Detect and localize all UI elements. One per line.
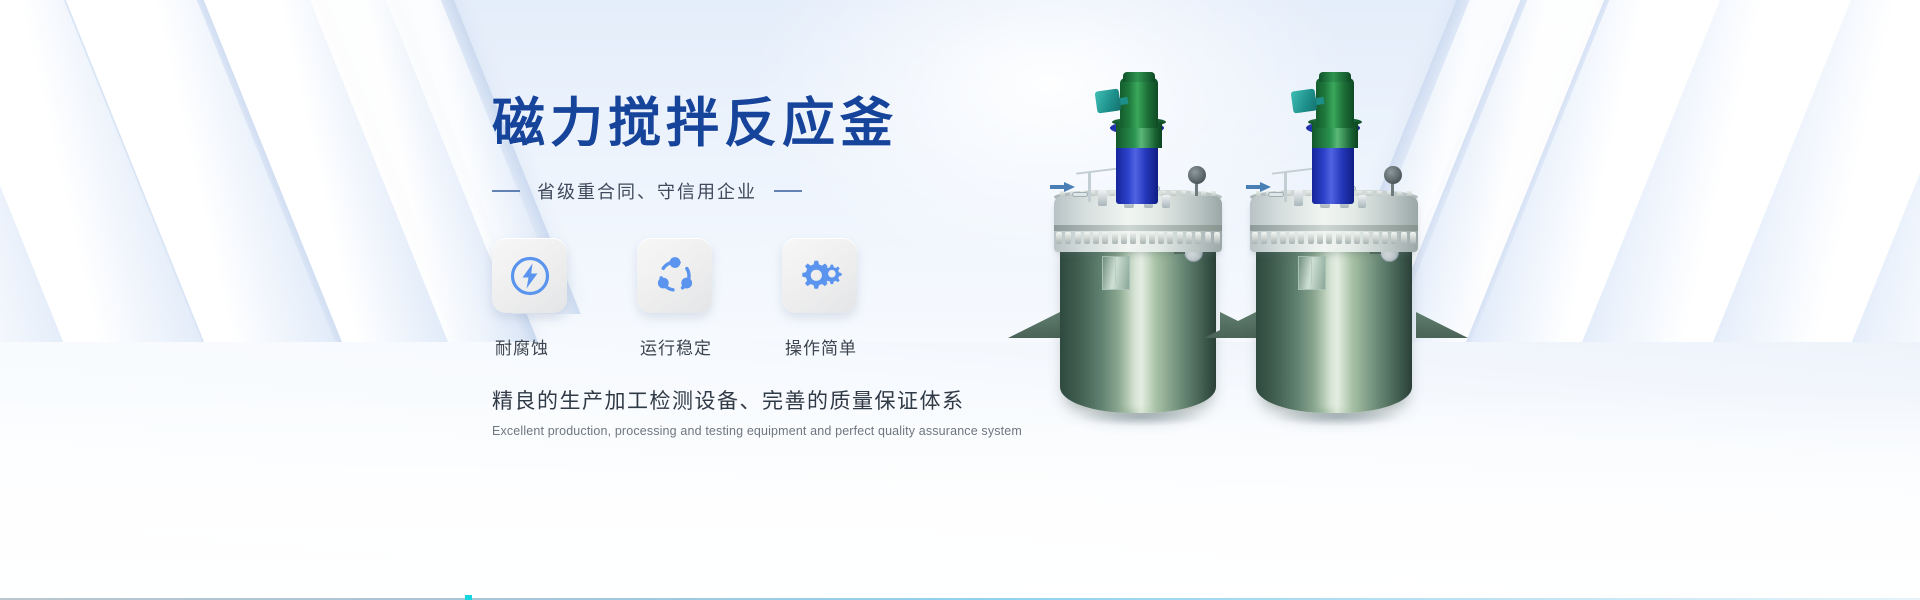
gears-icon bbox=[797, 253, 843, 299]
flange-bolts bbox=[1056, 232, 1220, 244]
banner-subtitle: 省级重合同、守信用企业 bbox=[537, 178, 757, 204]
feature-list: 耐腐蚀 运行稳定 bbox=[492, 238, 1112, 359]
feature-label: 操作简单 bbox=[782, 334, 927, 359]
vessel-body bbox=[1060, 238, 1216, 413]
flange-bolts bbox=[1252, 232, 1416, 244]
carousel-progress-indicator[interactable] bbox=[465, 595, 472, 600]
tagline-english: Excellent production, processing and tes… bbox=[492, 424, 1112, 438]
pressure-gauge-icon bbox=[1384, 166, 1402, 184]
junction-box bbox=[1291, 88, 1318, 113]
reactor-unit bbox=[1040, 60, 1240, 480]
banner-stage: 磁力搅拌反应釜 省级重合同、守信用企业 耐腐蚀 bbox=[0, 0, 1920, 600]
lightning-bolt-icon bbox=[508, 254, 552, 298]
feature-item-easy-operation[interactable]: 操作简单 bbox=[782, 238, 927, 359]
vessel-body bbox=[1256, 238, 1412, 413]
dash-right-icon bbox=[774, 190, 802, 192]
product-image-reactors bbox=[1040, 60, 1460, 480]
subtitle-row: 省级重合同、守信用企业 bbox=[492, 178, 1112, 204]
feature-icon-tile bbox=[782, 238, 857, 313]
vessel-nameplate bbox=[1298, 256, 1326, 290]
share-nodes-icon bbox=[653, 254, 697, 298]
pressure-gauge-icon bbox=[1188, 166, 1206, 184]
junction-box bbox=[1095, 88, 1122, 113]
dash-left-icon bbox=[492, 190, 520, 192]
feature-icon-tile bbox=[492, 238, 567, 313]
vessel-nameplate bbox=[1102, 256, 1130, 290]
feature-item-corrosion-resistant[interactable]: 耐腐蚀 bbox=[492, 238, 637, 359]
page-title: 磁力搅拌反应釜 bbox=[492, 96, 1112, 152]
feature-label: 运行稳定 bbox=[637, 334, 782, 359]
tagline-chinese: 精良的生产加工检测设备、完善的质量保证体系 bbox=[492, 385, 1112, 415]
reactor-unit bbox=[1236, 60, 1436, 480]
feature-label: 耐腐蚀 bbox=[492, 334, 637, 359]
feature-item-stable-operation[interactable]: 运行稳定 bbox=[637, 238, 782, 359]
feature-icon-tile bbox=[637, 238, 712, 313]
banner-content: 磁力搅拌反应釜 省级重合同、守信用企业 耐腐蚀 bbox=[492, 96, 1112, 438]
